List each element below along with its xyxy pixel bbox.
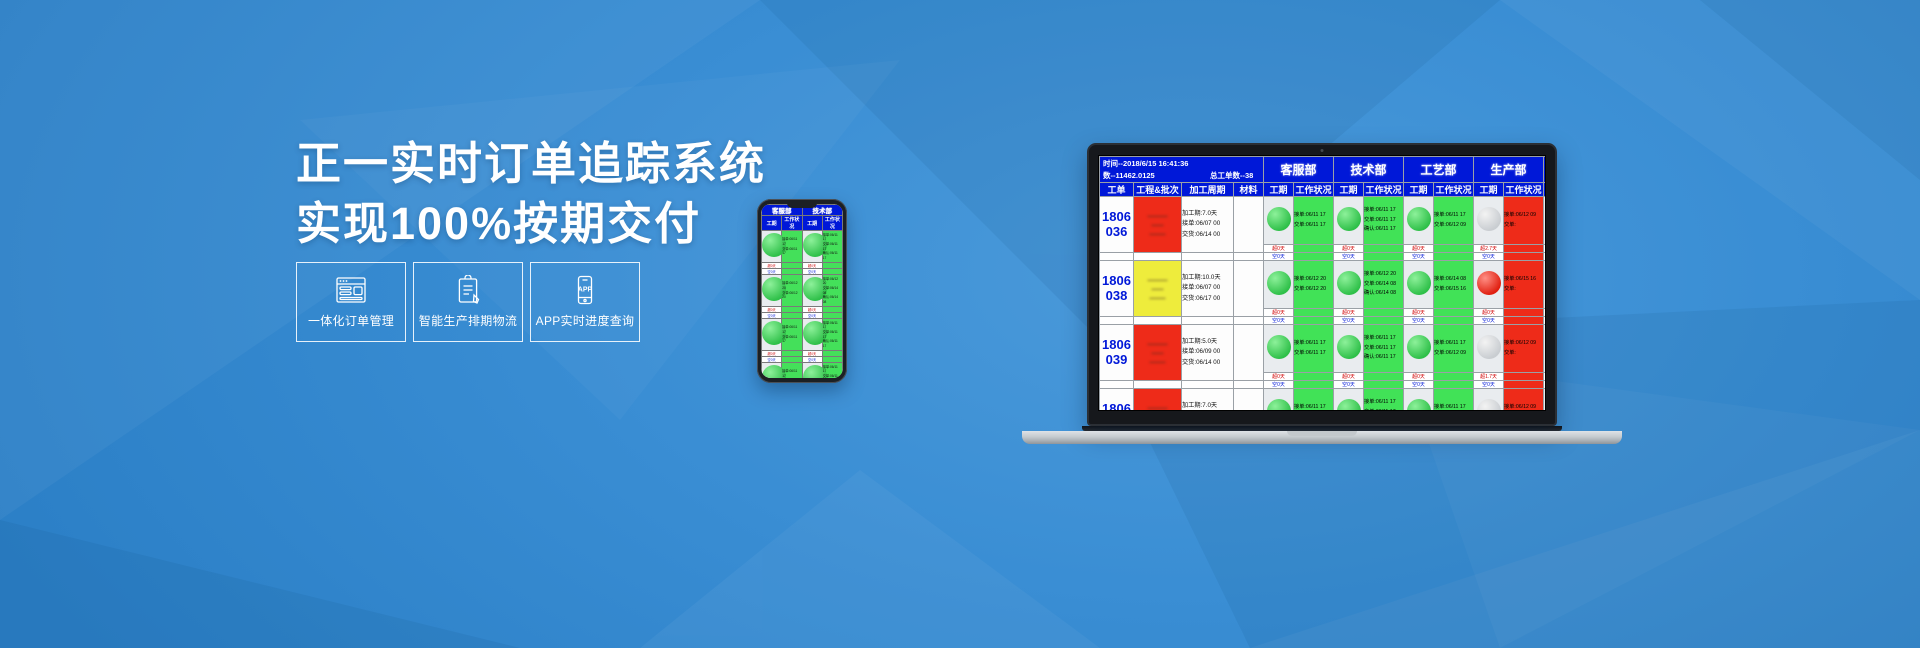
remaining-tag-track: 空0天 (1544, 381, 1546, 389)
status-dot-green (1267, 271, 1291, 295)
clipboard-pencil-icon (451, 275, 485, 305)
table-row[interactable]: 1806038▬▬▬▬▬▬▬▬▬▬▬▬加工期:10.0天接单:06/07 00交… (1100, 261, 1547, 309)
col-header-base-3: 材料 (1234, 183, 1264, 197)
work-status-cell-craft: 接单:06/11 17交单:06/12 09 (1434, 197, 1474, 245)
header-count: 数--11462.0125 (1103, 170, 1155, 181)
duration-cell-cs (1264, 389, 1294, 412)
work-status-cell-cs: 接单:06/11 17交单:06/11 17 (1294, 389, 1334, 412)
phone-status-cs: 接单:06/11 17交单:06/11 17 (782, 231, 802, 263)
remaining-spacer-craft (1434, 317, 1474, 325)
remaining-spacer-prod (1504, 381, 1544, 389)
status-tag-spacer-prod (1504, 309, 1544, 317)
webcam-icon (1321, 149, 1324, 152)
table-body: 1806036▬▬▬▬▬▬▬▬▬▬▬▬加工期:7.0天接单:06/07 00交货… (1100, 197, 1547, 412)
status-tag-spacer-tech (1364, 309, 1404, 317)
mobile-app-icon: APP (568, 275, 602, 305)
remaining-spacer-2 (1182, 253, 1234, 261)
phone-duration-cs (762, 363, 782, 379)
window-list-icon (334, 275, 368, 305)
remaining-spacer-3 (1234, 253, 1264, 261)
duration-cell-track (1544, 261, 1546, 309)
status-tag-spacer-cs (1294, 245, 1334, 253)
phone-status-tech: 接单:06/11 17交单:06/11 17确认:06/11 17 (822, 231, 842, 263)
table-row-remaining: 空0天空0天空0天空0天空0天 (1100, 317, 1547, 325)
table-row-remaining: 空0天空0天空0天空0天空0天 (1100, 381, 1547, 389)
work-status-cell-prod: 接单:06/12 09交单: (1504, 197, 1544, 245)
status-tag-spacer-craft (1434, 245, 1474, 253)
col-header-1-1: 工作状况 (1364, 183, 1404, 197)
overdue-tag-prod: 超2.7天 (1474, 245, 1504, 253)
phone-duration-cs (762, 231, 782, 263)
status-tag-spacer-prod (1504, 373, 1544, 381)
col-header-3-0: 工期 (1474, 183, 1504, 197)
remaining-spacer-tech (1364, 381, 1404, 389)
status-dot-gray (1477, 335, 1501, 359)
col-header-base-1: 工程&批次 (1134, 183, 1182, 197)
svg-text:APP: APP (578, 287, 593, 294)
col-header-1-0: 工期 (1334, 183, 1364, 197)
status-dot-red (1477, 271, 1501, 295)
work-status-cell-cs: 接单:06/11 17交单:06/11 17 (1294, 325, 1334, 373)
status-dot-green (1337, 399, 1361, 411)
duration-cell-prod (1474, 197, 1504, 245)
work-order-number: 1806038 (1100, 261, 1134, 317)
phone-table-head: 客服部 技术部 工期 工作状况 工期 工作状况 (762, 205, 843, 231)
duration-cell-cs (1264, 197, 1294, 245)
table-column-row: 工单工程&批次加工周期材料工期工作状况工期工作状况工期工作状况工期工作状况工期工… (1100, 183, 1547, 197)
laptop-base (1022, 431, 1622, 444)
phone-duration-tech (802, 231, 822, 263)
status-tag-spacer-tech (1364, 245, 1404, 253)
order-tracking-table: 时间--2018/6/15 16:41:36 数--11462.0125 总工单… (1099, 156, 1546, 411)
remaining-tag-prod: 空0天 (1474, 381, 1504, 389)
phone-column-row: 工期 工作状况 工期 工作状况 (762, 216, 843, 231)
col-header-base-2: 加工周期 (1182, 183, 1234, 197)
overdue-tag-prod: 超0天 (1474, 309, 1504, 317)
work-status-cell-cs: 接单:06/11 17交单:06/11 17 (1294, 197, 1334, 245)
status-dot-gray (1477, 399, 1501, 411)
status-tag-spacer-cs (1294, 309, 1334, 317)
feature-label: 一体化订单管理 (308, 312, 394, 329)
status-tag-spacer-cs (1294, 373, 1334, 381)
phone-status-tech: 接单:06/11 17交单:06/11 17确认:06/11 17 (822, 363, 842, 379)
work-status-cell-prod: 接单:06/12 09交单: (1504, 325, 1544, 373)
remaining-tag-tech: 空0天 (1334, 381, 1364, 389)
duration-cell-prod (1474, 389, 1504, 412)
remaining-tag-prod: 空0天 (1474, 317, 1504, 325)
remaining-tag-track: 空0天 (1544, 253, 1546, 261)
background-polygons (0, 0, 1920, 648)
remaining-spacer-3 (1234, 381, 1264, 389)
duration-cell-track (1544, 325, 1546, 373)
project-batch-cell: ▬▬▬▬▬▬▬▬▬▬▬▬ (1134, 389, 1182, 412)
work-order-number: 1806040 (1100, 389, 1134, 412)
feature-box-app-progress-query[interactable]: APP APP实时进度查询 (530, 262, 640, 342)
phone-table-row[interactable]: 接单:06/12 20交单:06/12 20接单:06/12 20交单:06/1… (762, 275, 843, 307)
work-status-cell-cs: 接单:06/12 20交单:06/12 20 (1294, 261, 1334, 309)
project-batch-cell: ▬▬▬▬▬▬▬▬▬▬▬▬ (1134, 261, 1182, 317)
work-status-cell-craft: 接单:06/11 17交单:06/12 09 (1434, 389, 1474, 412)
duration-cell-prod (1474, 325, 1504, 373)
duration-cell-tech (1334, 261, 1364, 309)
phone-duration-tech (802, 275, 822, 307)
work-status-cell-tech: 接单:06/11 17交单:06/11 17确认:06/11 17 (1364, 197, 1404, 245)
status-dot-green (1407, 335, 1431, 359)
phone-status-cs: 接单:06/11 17交单:06/11 17 (782, 363, 802, 379)
remaining-spacer-0 (1100, 381, 1134, 389)
overdue-tag-prod: 超1.7天 (1474, 373, 1504, 381)
remaining-tag-cs: 空0天 (1264, 381, 1294, 389)
overdue-tag-tech: 超0天 (1334, 245, 1364, 253)
phone-mockup: 客服部 技术部 工期 工作状况 工期 工作状况 接单:06/11 17交单:06… (757, 199, 847, 383)
status-tag-spacer-tech (1364, 373, 1404, 381)
overdue-tag-cs: 超0天 (1264, 245, 1294, 253)
status-dot-green (1407, 207, 1431, 231)
work-status-cell-prod: 接单:06/15 16交单: (1504, 261, 1544, 309)
status-tag-spacer-craft (1434, 373, 1474, 381)
laptop-screen[interactable]: 时间--2018/6/15 16:41:36 数--11462.0125 总工单… (1098, 155, 1546, 411)
header-total-orders: 总工单数--38 (1210, 170, 1253, 181)
remaining-spacer-1 (1134, 253, 1182, 261)
status-dot-green (1267, 207, 1291, 231)
feature-label: 智能生产排期物流 (419, 312, 517, 329)
duration-cell-cs (1264, 261, 1294, 309)
work-status-cell-tech: 接单:06/11 17交单:06/11 17确认:06/11 17 (1364, 389, 1404, 412)
col-header-2-1: 工作状况 (1434, 183, 1474, 197)
status-dot-green (1337, 207, 1361, 231)
overdue-tag-track: 超0天 (1544, 309, 1546, 317)
phone-table-row[interactable]: 接单:06/11 17交单:06/11 17接单:06/11 17交单:06/1… (762, 363, 843, 379)
overdue-tag-tech: 超0天 (1334, 309, 1364, 317)
feature-label: APP实时进度查询 (536, 312, 635, 329)
status-dot-green (1407, 399, 1431, 411)
remaining-spacer-cs (1294, 253, 1334, 261)
remaining-spacer-cs (1294, 381, 1334, 389)
remaining-tag-tech: 空0天 (1334, 253, 1364, 261)
phone-table-body: 接单:06/11 17交单:06/11 17接单:06/11 17交单:06/1… (762, 231, 843, 379)
phone-col-duration-tech: 工期 (802, 216, 822, 231)
material-cell (1234, 389, 1264, 412)
phone-screen[interactable]: 客服部 技术部 工期 工作状况 工期 工作状况 接单:06/11 17交单:06… (761, 204, 843, 378)
duration-cell-track (1544, 389, 1546, 412)
remaining-tag-craft: 空0天 (1404, 381, 1434, 389)
phone-col-duration-cs: 工期 (762, 216, 782, 231)
status-tag-spacer-craft (1434, 309, 1474, 317)
headline-line-1: 正一实时订单追踪系统 (296, 134, 936, 194)
project-batch-cell: ▬▬▬▬▬▬▬▬▬▬▬▬ (1134, 197, 1182, 253)
dept-customer-service: 客服部 (1264, 157, 1334, 183)
col-header-0-0: 工期 (1264, 183, 1294, 197)
processing-cycle-cell: 加工期:7.0天接单:06/08 00交货:06/15 00 (1182, 389, 1234, 412)
table-meta-row: 时间--2018/6/15 16:41:36 数--11462.0125 总工单… (1100, 157, 1547, 183)
overdue-tag-craft: 超0天 (1404, 373, 1434, 381)
col-header-0-1: 工作状况 (1294, 183, 1334, 197)
overdue-tag-tech: 超0天 (1334, 373, 1364, 381)
remaining-tag-cs: 空0天 (1264, 317, 1294, 325)
phone-duration-cs (762, 319, 782, 351)
duration-cell-craft (1404, 325, 1434, 373)
remaining-spacer-0 (1100, 317, 1134, 325)
duration-cell-track (1544, 197, 1546, 245)
phone-duration-tech (802, 319, 822, 351)
col-header-base-0: 工单 (1100, 183, 1134, 197)
duration-cell-tech (1334, 197, 1364, 245)
table-row[interactable]: 1806036▬▬▬▬▬▬▬▬▬▬▬▬加工期:7.0天接单:06/07 00交货… (1100, 197, 1547, 245)
work-status-cell-tech: 接单:06/12 20交单:06/14 08确认:06/14 08 (1364, 261, 1404, 309)
phone-status-tech: 接单:06/11 17交单:06/11 17确认:06/11 17 (822, 319, 842, 351)
col-header-3-1: 工作状况 (1504, 183, 1544, 197)
remaining-spacer-2 (1182, 381, 1234, 389)
remaining-spacer-craft (1434, 381, 1474, 389)
overdue-tag-craft: 超0天 (1404, 245, 1434, 253)
laptop-mockup: 时间--2018/6/15 16:41:36 数--11462.0125 总工单… (1022, 143, 1622, 444)
status-dot-green (1407, 271, 1431, 295)
project-batch-cell: ▬▬▬▬▬▬▬▬▬▬▬▬ (1134, 325, 1182, 381)
phone-col-status-cs: 工作状况 (782, 216, 802, 231)
overdue-tag-cs: 超0天 (1264, 373, 1294, 381)
header-time: 时间--2018/6/15 16:41:36 (1103, 158, 1188, 169)
remaining-spacer-1 (1134, 317, 1182, 325)
phone-table-row[interactable]: 接单:06/11 17交单:06/11 17接单:06/11 17交单:06/1… (762, 231, 843, 263)
status-dot-green (1267, 335, 1291, 359)
status-dot-gray (1477, 207, 1501, 231)
col-header-2-0: 工期 (1404, 183, 1434, 197)
status-tag-spacer-prod (1504, 245, 1544, 253)
status-dot-green (1337, 271, 1361, 295)
remaining-spacer-prod (1504, 253, 1544, 261)
material-cell (1234, 325, 1264, 381)
duration-cell-cs (1264, 325, 1294, 373)
remaining-spacer-1 (1134, 381, 1182, 389)
material-cell (1234, 197, 1264, 253)
remaining-tag-track: 空0天 (1544, 317, 1546, 325)
duration-cell-craft (1404, 389, 1434, 412)
remaining-spacer-2 (1182, 317, 1234, 325)
remaining-spacer-prod (1504, 317, 1544, 325)
remaining-tag-craft: 空0天 (1404, 253, 1434, 261)
dept-production: 生产部 (1474, 157, 1544, 183)
overdue-tag-craft: 超0天 (1404, 309, 1434, 317)
processing-cycle-cell: 加工期:5.0天接单:06/09 00交货:06/14 00 (1182, 325, 1234, 381)
dept-craft: 工艺部 (1404, 157, 1474, 183)
phone-status-cs: 接单:06/11 17交单:06/11 17 (782, 319, 802, 351)
overdue-tag-track: 超1.7天 (1544, 245, 1546, 253)
processing-cycle-cell: 加工期:10.0天接单:06/07 00交货:06/17 00 (1182, 261, 1234, 317)
table-row[interactable]: 1806040▬▬▬▬▬▬▬▬▬▬▬▬加工期:7.0天接单:06/08 00交货… (1100, 389, 1547, 412)
duration-cell-craft (1404, 197, 1434, 245)
phone-order-table: 客服部 技术部 工期 工作状况 工期 工作状况 接单:06/11 17交单:06… (761, 204, 843, 378)
remaining-spacer-tech (1364, 253, 1404, 261)
overdue-tag-cs: 超0天 (1264, 309, 1294, 317)
phone-duration-cs (762, 275, 782, 307)
status-dot-green (1267, 399, 1291, 411)
feature-box-order-management[interactable]: 一体化订单管理 (296, 262, 406, 342)
remaining-spacer-0 (1100, 253, 1134, 261)
phone-duration-tech (802, 363, 822, 379)
remaining-tag-craft: 空0天 (1404, 317, 1434, 325)
duration-cell-tech (1334, 325, 1364, 373)
table-row[interactable]: 1806039▬▬▬▬▬▬▬▬▬▬▬▬加工期:5.0天接单:06/09 00交货… (1100, 325, 1547, 373)
remaining-tag-prod: 空0天 (1474, 253, 1504, 261)
remaining-tag-tech: 空0天 (1334, 317, 1364, 325)
laptop-lid: 时间--2018/6/15 16:41:36 数--11462.0125 总工单… (1087, 143, 1557, 426)
remaining-tag-cs: 空0天 (1264, 253, 1294, 261)
dept-technical: 技术部 (1334, 157, 1404, 183)
status-dot-green (1337, 335, 1361, 359)
processing-cycle-cell: 加工期:7.0天接单:06/07 00交货:06/14 00 (1182, 197, 1234, 253)
overdue-tag-track: 超1.7天 (1544, 373, 1546, 381)
table-meta-info: 时间--2018/6/15 16:41:36 数--11462.0125 总工单… (1100, 157, 1264, 183)
work-status-cell-prod: 接单:06/12 09交单: (1504, 389, 1544, 412)
duration-cell-prod (1474, 261, 1504, 309)
material-cell (1234, 261, 1264, 317)
work-order-number: 1806036 (1100, 197, 1134, 253)
remaining-spacer-tech (1364, 317, 1404, 325)
work-status-cell-tech: 接单:06/11 17交单:06/11 17确认:06/11 17 (1364, 325, 1404, 373)
remaining-spacer-craft (1434, 253, 1474, 261)
duration-cell-tech (1334, 389, 1364, 412)
work-order-number: 1806039 (1100, 325, 1134, 381)
laptop-base-notch (1287, 431, 1357, 436)
feature-box-production-scheduling[interactable]: 智能生产排期物流 (413, 262, 523, 342)
remaining-spacer-3 (1234, 317, 1264, 325)
phone-table-row[interactable]: 接单:06/11 17交单:06/11 17接单:06/11 17交单:06/1… (762, 319, 843, 351)
phone-status-cs: 接单:06/12 20交单:06/12 20 (782, 275, 802, 307)
table-row-remaining: 空0天空0天空0天空0天空0天 (1100, 253, 1547, 261)
phone-status-tech: 接单:06/12 20交单:06/14 08确认:06/14 08 (822, 275, 842, 307)
work-status-cell-craft: 接单:06/11 17交单:06/12 09 (1434, 325, 1474, 373)
feature-box-group: 一体化订单管理 智能生产排期物流 APP APP实时进度查询 (296, 262, 640, 342)
col-header-4-0: 工期 (1544, 183, 1546, 197)
table-head: 时间--2018/6/15 16:41:36 数--11462.0125 总工单… (1100, 157, 1547, 197)
remaining-spacer-cs (1294, 317, 1334, 325)
phone-col-status-tech: 工作状况 (822, 216, 842, 231)
phone-notch (787, 202, 817, 208)
background (0, 0, 1920, 648)
dept-tracking: 跟单部 (1544, 157, 1546, 183)
work-status-cell-craft: 接单:06/14 08交单:06/15 16 (1434, 261, 1474, 309)
duration-cell-craft (1404, 261, 1434, 309)
